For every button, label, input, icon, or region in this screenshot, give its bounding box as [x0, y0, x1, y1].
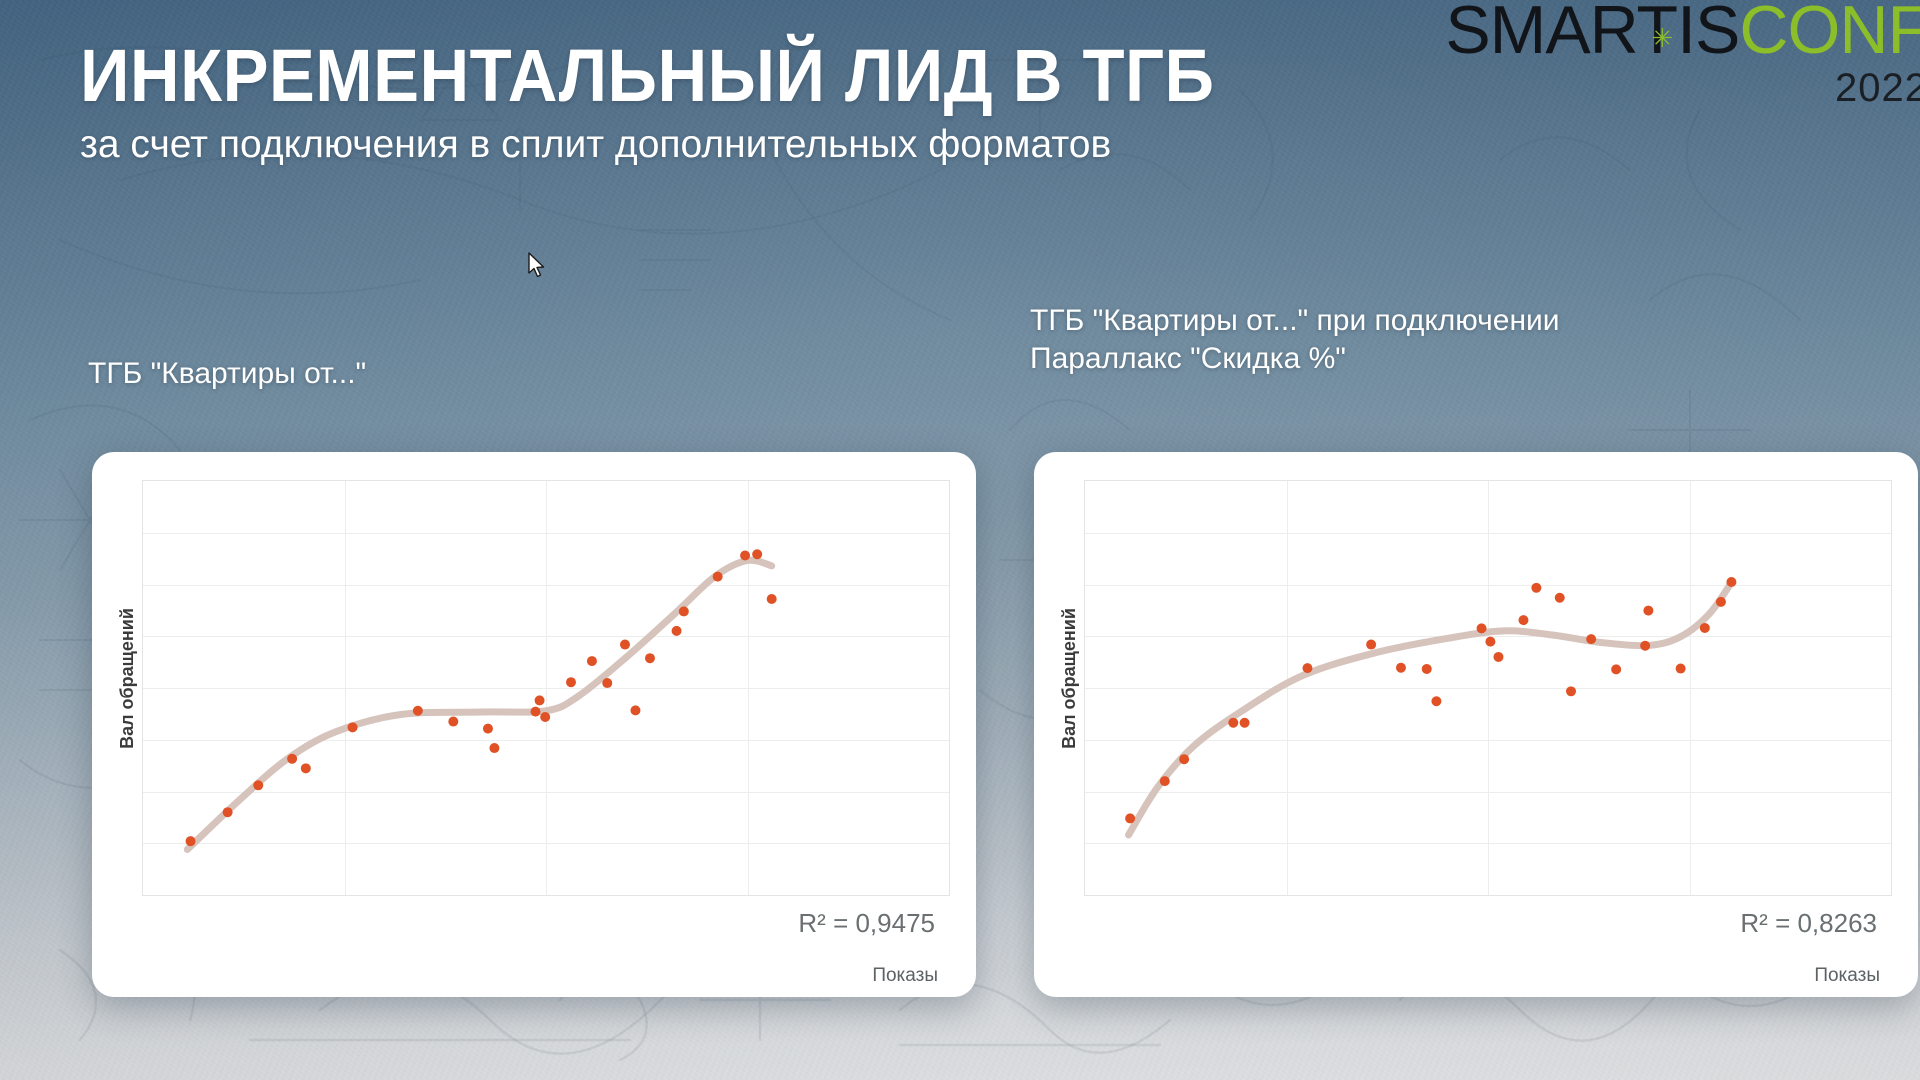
page-subtitle: за счет подключения в сплит дополнительн… — [80, 123, 1480, 168]
chart-left: Вал обращений R² = 0,9475 Показы — [92, 452, 976, 997]
data-point — [1640, 641, 1650, 651]
data-point — [740, 551, 750, 561]
smartisconf-logo: SMARTISCONF ✳ 2022 — [1445, 0, 1920, 111]
data-point — [1726, 577, 1736, 587]
chart-card-left: Вал обращений R² = 0,9475 Показы — [92, 452, 976, 997]
data-point — [535, 695, 545, 705]
logo-brand-text: SMARTIS — [1445, 0, 1739, 68]
data-point — [301, 763, 311, 773]
chart-caption-right: ТГБ "Квартиры от..." при подключении Пар… — [1030, 302, 1560, 379]
data-point — [223, 807, 233, 817]
data-point — [1531, 583, 1541, 593]
data-point — [540, 712, 550, 722]
chart-card-right: Вал обращений R² = 0,8263 Показы — [1034, 452, 1918, 997]
logo-suffix-text: CONF — [1739, 0, 1920, 68]
data-point — [620, 640, 630, 650]
data-point — [287, 754, 297, 764]
data-point — [1302, 663, 1312, 673]
data-point — [587, 656, 597, 666]
data-point — [1676, 664, 1686, 674]
data-point — [566, 677, 576, 687]
data-point — [630, 705, 640, 715]
plot-area-left: R² = 0,9475 — [142, 480, 950, 896]
data-point — [767, 594, 777, 604]
data-point — [602, 678, 612, 688]
data-point — [1228, 718, 1238, 728]
data-point — [1431, 696, 1441, 706]
data-point — [413, 706, 423, 716]
x-axis-label-left: Показы — [872, 965, 938, 987]
y-axis-label-left: Вал обращений — [110, 452, 144, 904]
y-axis-label-right: Вал обращений — [1052, 452, 1086, 904]
data-point — [186, 836, 196, 846]
data-point — [448, 717, 458, 727]
data-point — [483, 724, 493, 734]
data-point — [1700, 623, 1710, 633]
page-title: ИНКРЕМЕНТАЛЬНЫЙ ЛИД В ТГБ — [80, 38, 1382, 113]
data-point — [1555, 593, 1565, 603]
chart-right: Вал обращений R² = 0,8263 Показы — [1034, 452, 1918, 997]
scatter-series-left — [143, 481, 949, 895]
scatter-series-right — [1085, 481, 1891, 895]
asterisk-icon: ✳ — [1651, 30, 1668, 47]
data-point — [1485, 637, 1495, 647]
data-point — [1477, 623, 1487, 633]
data-point — [1716, 597, 1726, 607]
data-point — [1396, 663, 1406, 673]
x-axis-label-right: Показы — [1814, 965, 1880, 987]
data-point — [489, 743, 499, 753]
data-point — [1493, 652, 1503, 662]
data-point — [1366, 640, 1376, 650]
data-point — [1586, 634, 1596, 644]
logo-year: 2022 — [1445, 66, 1920, 111]
logo-wordmark: SMARTISCONF ✳ — [1445, 0, 1920, 64]
data-point — [1518, 615, 1528, 625]
slide-header: ИНКРЕМЕНТАЛЬНЫЙ ЛИД В ТГБ за счет подклю… — [80, 38, 1480, 168]
data-point — [672, 626, 682, 636]
data-point — [645, 653, 655, 663]
r-squared-label-left: R² = 0,9475 — [798, 908, 935, 939]
mouse-cursor — [527, 252, 547, 280]
data-point — [752, 549, 762, 559]
data-point — [1125, 813, 1135, 823]
data-point — [679, 606, 689, 616]
r-squared-label-right: R² = 0,8263 — [1740, 908, 1877, 939]
data-point — [713, 572, 723, 582]
data-point — [1160, 776, 1170, 786]
plot-area-right: R² = 0,8263 — [1084, 480, 1892, 896]
trend-line — [187, 560, 771, 849]
chart-caption-left: ТГБ "Квартиры от..." — [88, 355, 366, 393]
data-point — [348, 722, 358, 732]
data-point — [1179, 754, 1189, 764]
data-point — [531, 707, 541, 717]
data-point — [253, 780, 263, 790]
data-point — [1422, 664, 1432, 674]
trend-line — [1129, 581, 1733, 835]
data-point — [1566, 686, 1576, 696]
data-point — [1240, 718, 1250, 728]
data-point — [1611, 664, 1621, 674]
data-point — [1643, 606, 1653, 616]
